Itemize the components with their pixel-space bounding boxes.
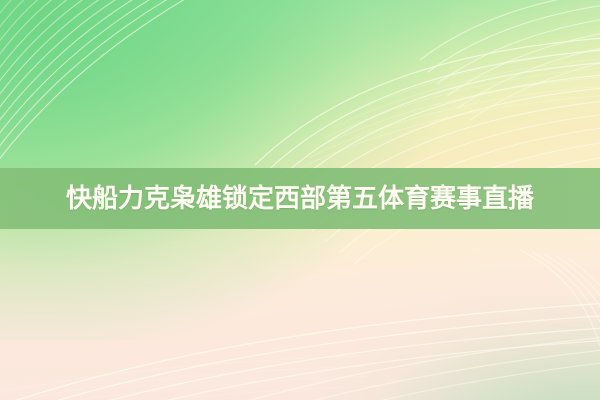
background-green-bottom-right-glow (324, 296, 600, 400)
banner-title: 快船力克枭雄锁定西部第五体育赛事直播 (66, 186, 534, 212)
title-band: 快船力克枭雄锁定西部第五体育赛事直播 (0, 168, 600, 229)
title-banner: 快船力克枭雄锁定西部第五体育赛事直播 (0, 0, 600, 400)
